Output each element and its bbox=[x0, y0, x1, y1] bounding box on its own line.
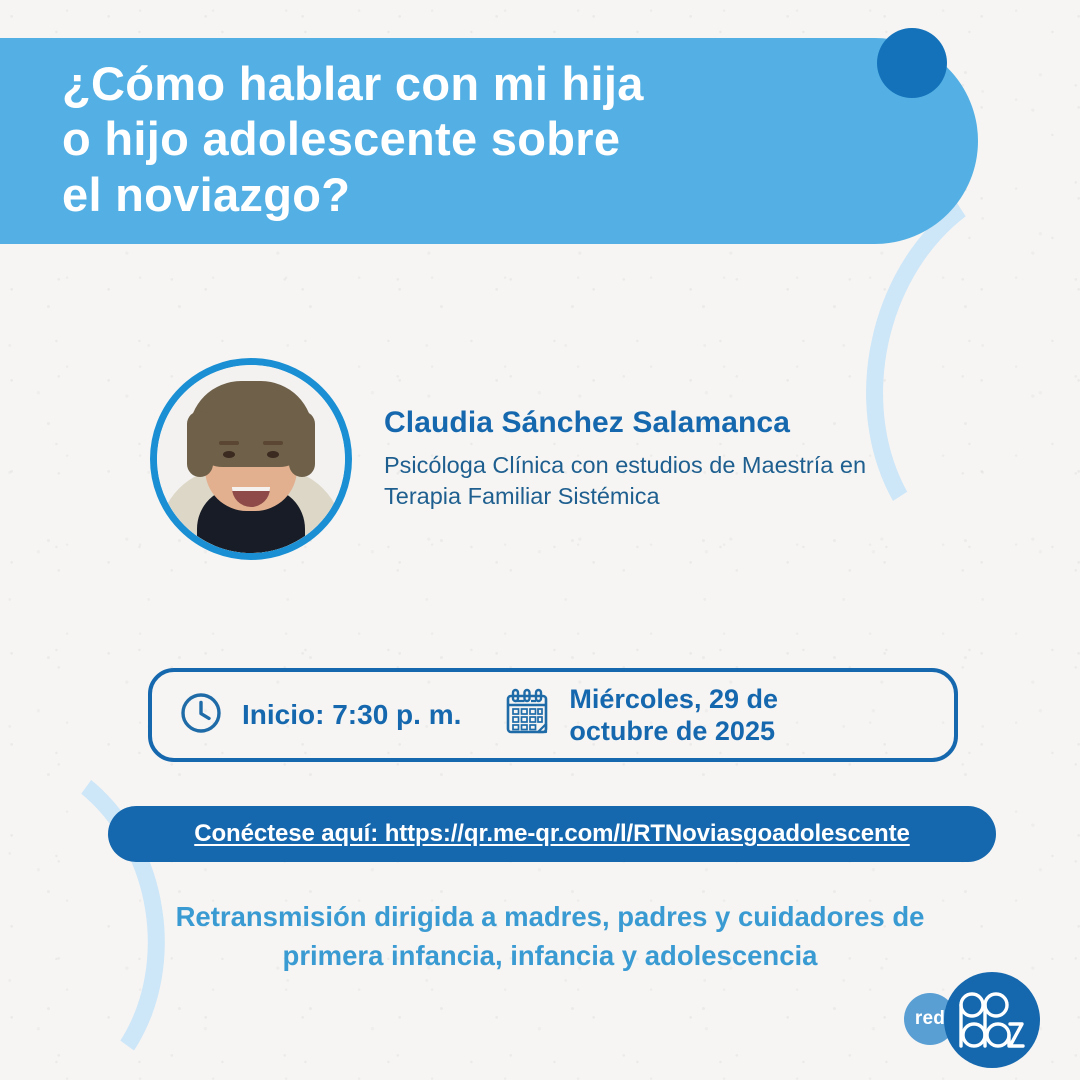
portrait-brow-left bbox=[219, 441, 239, 445]
time-group: Inicio: 7:30 p. m. bbox=[178, 690, 461, 741]
portrait-hair-right bbox=[289, 411, 315, 477]
redpapaz-logo: red bbox=[904, 968, 1056, 1072]
page-title: ¿Cómo hablar con mi hija o hijo adolesce… bbox=[62, 56, 862, 222]
connect-link-text[interactable]: Conéctese aquí: https://qr.me-qr.com/l/R… bbox=[194, 820, 910, 848]
speaker-avatar bbox=[150, 358, 352, 560]
poster-canvas: ¿Cómo hablar con mi hija o hijo adolesce… bbox=[0, 0, 1080, 1080]
speaker-block: Claudia Sánchez Salamanca Psicóloga Clín… bbox=[150, 358, 960, 560]
event-date-label: Miércoles, 29 de octubre de 2025 bbox=[569, 683, 778, 748]
speaker-portrait-image bbox=[157, 365, 345, 553]
schedule-panel: Inicio: 7:30 p. m. bbox=[148, 668, 958, 762]
logo-papaz-mark bbox=[944, 972, 1040, 1068]
audience-note: Retransmisión dirigida a madres, padres … bbox=[140, 898, 960, 975]
clock-icon bbox=[178, 690, 224, 741]
speaker-text-block: Claudia Sánchez Salamanca Psicóloga Clín… bbox=[384, 406, 960, 513]
header-dot-decoration bbox=[877, 28, 947, 98]
connect-link-button[interactable]: Conéctese aquí: https://qr.me-qr.com/l/R… bbox=[108, 806, 996, 862]
speaker-role: Psicóloga Clínica con estudios de Maestr… bbox=[384, 450, 960, 513]
portrait-hair-left bbox=[187, 411, 213, 477]
calendar-icon bbox=[503, 687, 551, 744]
date-group: Miércoles, 29 de octubre de 2025 bbox=[503, 683, 778, 748]
portrait-eye-right bbox=[267, 451, 279, 458]
start-time-label: Inicio: 7:30 p. m. bbox=[242, 699, 461, 731]
portrait-brow-right bbox=[263, 441, 283, 445]
speaker-name: Claudia Sánchez Salamanca bbox=[384, 406, 960, 440]
portrait-eye-left bbox=[223, 451, 235, 458]
logo-red-text: red bbox=[915, 1008, 945, 1030]
